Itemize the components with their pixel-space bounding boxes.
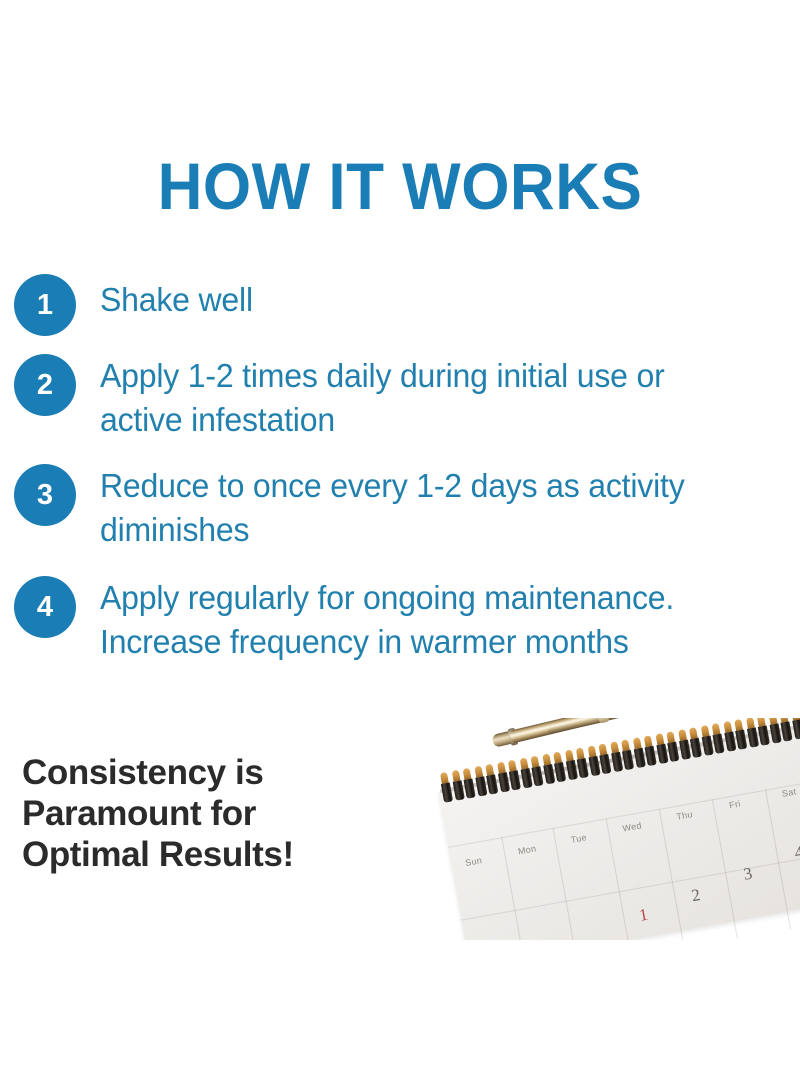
calendar-day-label-sun: Sun xyxy=(464,855,482,868)
list-item-step-1: 1 Shake well xyxy=(14,272,734,336)
calendar-grid-line xyxy=(712,799,738,939)
list-item-step-4: 4 Apply regularly for ongoing maintenanc… xyxy=(14,574,734,664)
calendar-day-label-fri: Fri xyxy=(728,798,741,810)
calendar-date-1: 1 xyxy=(638,905,650,926)
calendar-day-label-wed: Wed xyxy=(622,820,643,833)
step-number-badge-3: 3 xyxy=(14,464,76,526)
step-number-badge-1: 1 xyxy=(14,274,76,336)
list-item-step-3: 3 Reduce to once every 1-2 days as activ… xyxy=(14,462,734,552)
steps-list: 1 Shake well 2 Apply 1-2 times daily dur… xyxy=(14,272,734,680)
tagline: Consistency is Paramount for Optimal Res… xyxy=(22,752,422,875)
step-text-1: Shake well xyxy=(100,272,715,322)
tagline-line-3: Optimal Results! xyxy=(22,834,422,875)
step-number-badge-4: 4 xyxy=(14,576,76,638)
calendar-day-label-mon: Mon xyxy=(517,843,537,856)
calendar-day-label-thu: Thu xyxy=(676,809,694,822)
step-text-2: Apply 1-2 times daily during initial use… xyxy=(100,352,715,442)
calendar-photo: Sun Mon Tue Wed Thu Fri Sat 1 2 3 4 xyxy=(415,718,800,950)
step-text-3: Reduce to once every 1-2 days as activit… xyxy=(100,462,715,552)
calendar-day-label-sat: Sat xyxy=(781,786,797,798)
tagline-line-2: Paramount for xyxy=(22,793,422,834)
photo-bottom-edge xyxy=(415,940,800,950)
step-number-badge-2: 2 xyxy=(14,354,76,416)
list-item-step-2: 2 Apply 1-2 times daily during initial u… xyxy=(14,352,734,442)
calendar-date-2: 2 xyxy=(690,885,702,906)
calendar-grid-line xyxy=(765,790,791,930)
spiral-calendar: Sun Mon Tue Wed Thu Fri Sat 1 2 3 4 xyxy=(435,718,800,950)
calendar-grid-line xyxy=(606,818,632,950)
page-title: HOW IT WORKS xyxy=(24,150,776,222)
tagline-line-1: Consistency is xyxy=(22,752,422,793)
step-text-4: Apply regularly for ongoing maintenance.… xyxy=(100,574,715,664)
calendar-grid-line xyxy=(552,828,578,950)
pen-clip-knob xyxy=(598,718,610,724)
calendar-day-label-tue: Tue xyxy=(570,832,588,845)
calendar-grid-line xyxy=(659,809,685,949)
